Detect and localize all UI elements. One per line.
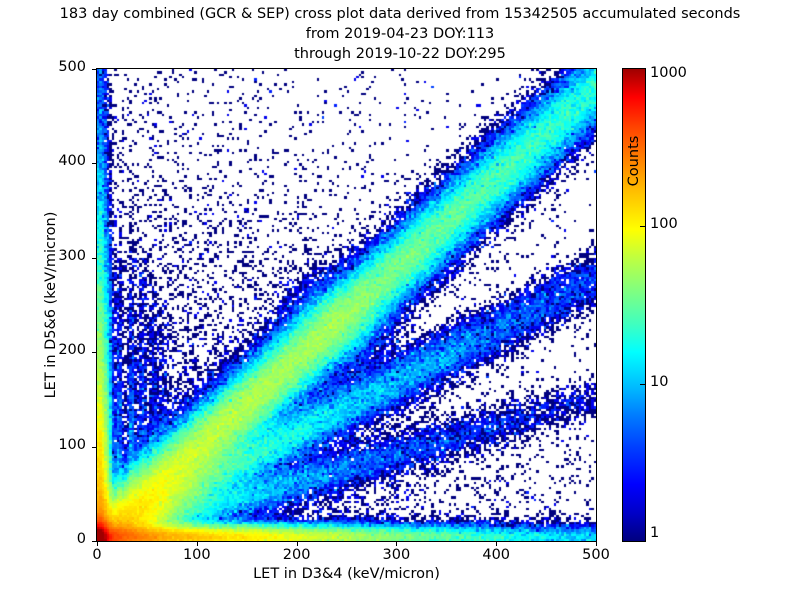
y-tick-mark xyxy=(92,352,96,353)
plot-area[interactable] xyxy=(96,68,597,542)
x-tick-mark xyxy=(97,542,98,546)
title-line-2: from 2019-04-23 DOY:113 xyxy=(0,24,800,44)
colorbar-tick-label: 100 xyxy=(650,216,678,232)
x-tick-label: 0 xyxy=(67,547,127,563)
y-tick-mark xyxy=(92,541,96,542)
x-tick-mark xyxy=(297,542,298,546)
figure-canvas: 183 day combined (GCR & SEP) cross plot … xyxy=(0,0,800,600)
x-tick-label: 200 xyxy=(267,547,327,563)
y-tick-mark xyxy=(92,163,96,164)
colorbar-tick-mark xyxy=(640,384,646,385)
x-tick-label: 400 xyxy=(466,547,526,563)
y-tick-mark xyxy=(92,69,96,70)
title-line-3: through 2019-10-22 DOY:295 xyxy=(0,44,800,64)
plot-title: 183 day combined (GCR & SEP) cross plot … xyxy=(0,4,800,64)
y-axis-label: LET in D5&6 (keV/micron) xyxy=(43,68,59,542)
x-tick-label: 500 xyxy=(566,547,626,563)
x-axis-label: LET in D3&4 (keV/micron) xyxy=(96,566,597,582)
x-tick-mark xyxy=(396,542,397,546)
x-tick-label: 300 xyxy=(366,547,426,563)
x-tick-label: 100 xyxy=(167,547,227,563)
colorbar-tick-label: 10 xyxy=(650,374,668,390)
title-line-1: 183 day combined (GCR & SEP) cross plot … xyxy=(0,4,800,24)
y-tick-mark xyxy=(92,447,96,448)
x-tick-mark xyxy=(197,542,198,546)
colorbar-tick-label: 1000 xyxy=(650,65,687,81)
colorbar-label: Counts xyxy=(626,41,642,281)
colorbar-tick-label: 1 xyxy=(650,525,659,541)
y-tick-mark xyxy=(92,258,96,259)
density-heatmap xyxy=(97,69,596,541)
x-tick-mark xyxy=(496,542,497,546)
x-tick-mark xyxy=(596,542,597,546)
